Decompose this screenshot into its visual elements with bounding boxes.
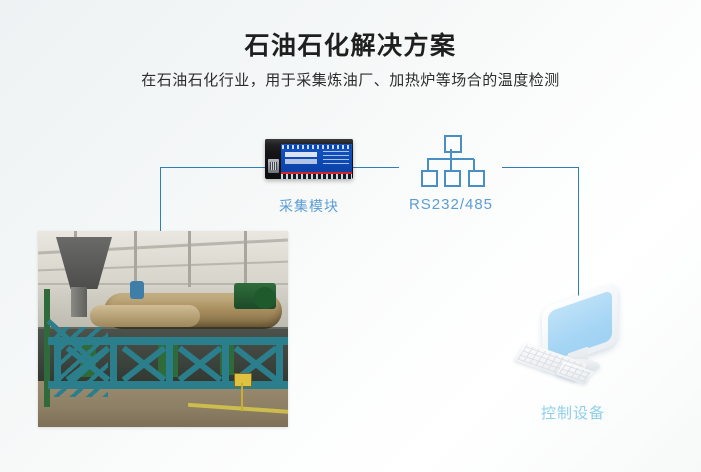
photo-valve bbox=[130, 281, 144, 299]
acquisition-module-label: 采集模块 bbox=[244, 196, 374, 216]
photo-frame-brace bbox=[118, 343, 164, 383]
device-serial-connector bbox=[268, 159, 279, 173]
device-bottom-terminals bbox=[281, 174, 352, 179]
connector-line-bus-to-control-vertical bbox=[578, 167, 579, 302]
control-equipment-label: 控制设备 bbox=[508, 402, 638, 423]
photo-chute bbox=[71, 287, 87, 317]
industrial-plant-photo bbox=[38, 231, 288, 427]
computer-monitor-icon bbox=[520, 293, 636, 393]
photo-pipe bbox=[90, 305, 200, 327]
photo-sign-post bbox=[241, 383, 243, 411]
bus-protocol-label: RS232/485 bbox=[389, 196, 513, 213]
network-drop-line bbox=[473, 159, 475, 170]
network-node-child bbox=[444, 170, 461, 187]
network-drop-line bbox=[450, 159, 452, 170]
photo-motor-wheel bbox=[254, 287, 276, 309]
connector-line-bus-to-control-horizontal bbox=[502, 167, 579, 168]
network-node-top bbox=[444, 135, 462, 153]
network-node-child bbox=[421, 170, 438, 187]
connector-line-photo-to-module-horizontal bbox=[160, 167, 272, 168]
network-drop-line bbox=[427, 159, 429, 170]
photo-warning-sign bbox=[234, 373, 252, 387]
device-terminal-row bbox=[282, 145, 351, 149]
connector-line-photo-to-module-vertical bbox=[160, 167, 161, 233]
device-label-text bbox=[323, 151, 349, 167]
photo-frame-post bbox=[222, 337, 229, 389]
device-label-block bbox=[285, 152, 317, 157]
photo-frame-post bbox=[276, 337, 283, 389]
photo-frame-brace bbox=[174, 343, 220, 383]
page-title: 石油石化解决方案 bbox=[0, 26, 701, 62]
network-node-child bbox=[468, 170, 485, 187]
photo-frame-post bbox=[110, 337, 117, 389]
connector-line-module-to-bus bbox=[347, 167, 399, 168]
network-hierarchy-icon bbox=[417, 135, 485, 185]
solution-diagram-page: 石油石化解决方案 在石油石化行业，用于采集炼油厂、加热炉等场合的温度检测 bbox=[0, 0, 701, 472]
acquisition-module-device bbox=[265, 139, 353, 179]
photo-frame-post bbox=[166, 337, 173, 389]
page-subtitle: 在石油石化行业，用于采集炼油厂、加热炉等场合的温度检测 bbox=[0, 69, 701, 90]
device-front-panel bbox=[281, 144, 352, 172]
